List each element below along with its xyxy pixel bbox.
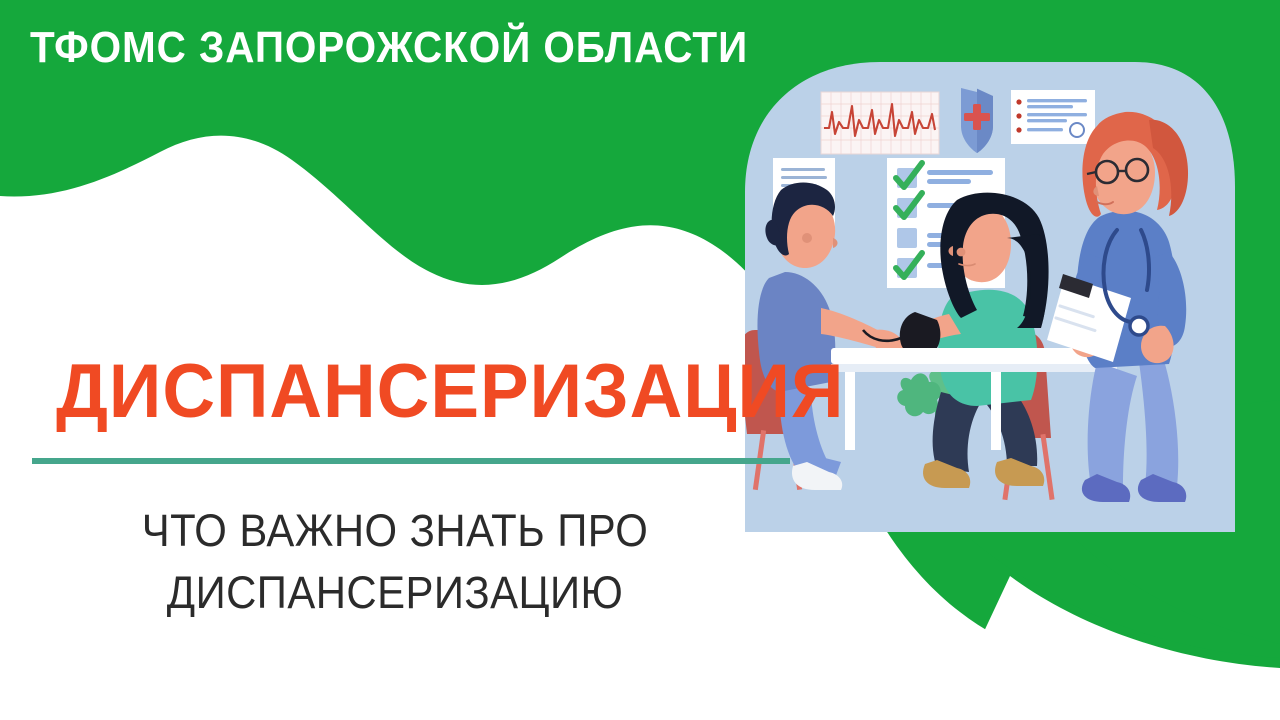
page-title: ТФОМС ЗАПОРОЖСКОЙ ОБЛАСТИ [30,22,748,74]
subtitle: ЧТО ВАЖНО ЗНАТЬ ПРО ДИСПАНСЕРИЗАЦИЮ [28,500,763,624]
section-divider [32,458,790,464]
poster-canvas: ТФОМС ЗАПОРОЖСКОЙ ОБЛАСТИ ДИСПАНСЕРИЗАЦИ… [0,0,1280,720]
illustration-panel [745,62,1235,532]
headline: ДИСПАНСЕРИЗАЦИЯ [56,352,844,432]
medical-checkup-illustration [745,62,1235,532]
subtitle-line-2: ДИСПАНСЕРИЗАЦИЮ [28,562,763,624]
ecg-chart-poster [821,92,939,154]
subtitle-line-1: ЧТО ВАЖНО ЗНАТЬ ПРО [28,500,763,562]
bullet-list-poster [1011,90,1095,144]
